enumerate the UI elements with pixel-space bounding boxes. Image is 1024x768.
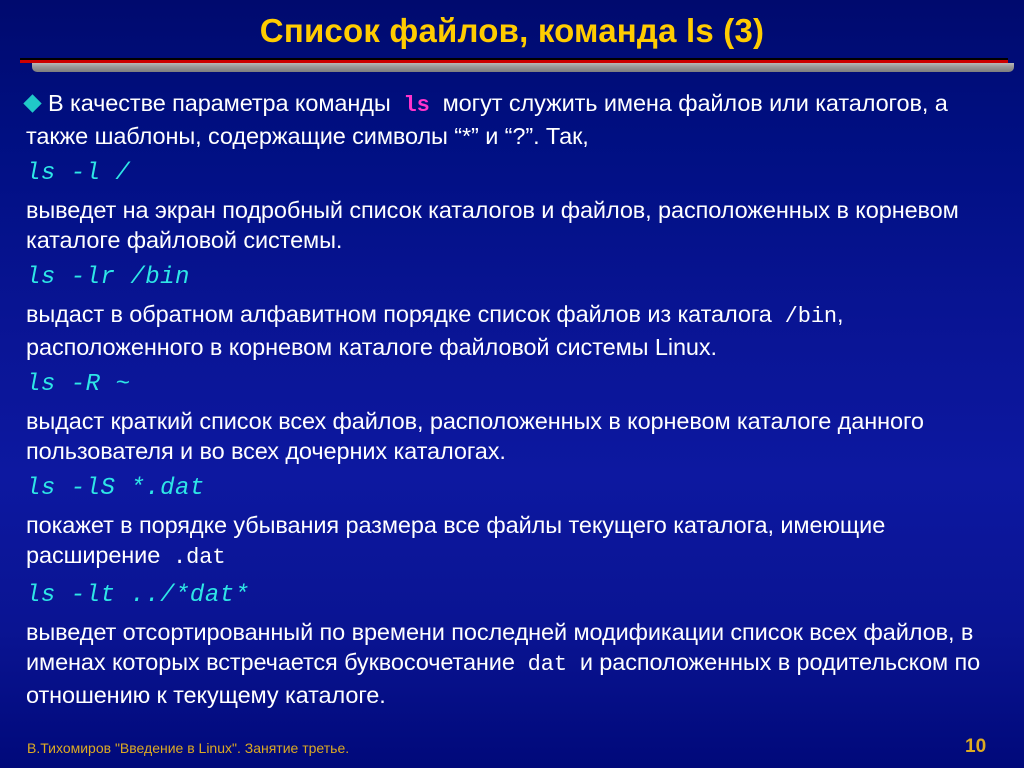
description-2: выдаст в обратном алфавитном порядке спи… — [26, 299, 1004, 362]
description-4: покажет в порядке убывания размера все ф… — [26, 510, 1004, 573]
title-divider — [20, 58, 1008, 72]
command-line-2: ls -lr /bin — [26, 259, 1004, 297]
page-number: 10 — [965, 736, 986, 758]
command-line-4: ls -lS *.dat — [26, 470, 1004, 508]
slide-title-area: Список файлов, команда ls (3) — [0, 0, 1024, 62]
description-1: выведет на экран подробный список катало… — [26, 195, 1004, 255]
slide-body: В качестве параметра команды ls могут сл… — [26, 88, 1004, 714]
page-title: Список файлов, команда ls (3) — [260, 12, 764, 50]
description-4-part1: покажет в порядке убывания размера все ф… — [26, 512, 885, 568]
description-2-path: /bin — [785, 304, 837, 329]
diamond-bullet-icon — [23, 94, 41, 112]
intro-command-token: ls — [404, 93, 430, 118]
description-2-part1: выдаст в обратном алфавитном порядке спи… — [26, 301, 772, 327]
command-line-3: ls -R ~ — [26, 366, 1004, 404]
command-line-1: ls -l / — [26, 155, 1004, 193]
description-3: выдаст краткий список всех файлов, распо… — [26, 406, 1004, 466]
divider-shadow-bar — [32, 63, 1014, 72]
footer-attribution: В.Тихомиров "Введение в Linux". Занятие … — [27, 740, 349, 756]
description-5: выведет отсортированный по времени после… — [26, 617, 1004, 710]
description-4-extension: .dat — [173, 545, 225, 570]
command-line-5: ls -lt ../*dat* — [26, 577, 1004, 615]
description-5-fragment: dat — [528, 652, 567, 677]
presentation-slide: Список файлов, команда ls (3) В качестве… — [0, 0, 1024, 768]
intro-bullet-paragraph: В качестве параметра команды ls могут сл… — [26, 88, 1004, 151]
intro-text-part1: В качестве параметра команды — [48, 90, 391, 116]
